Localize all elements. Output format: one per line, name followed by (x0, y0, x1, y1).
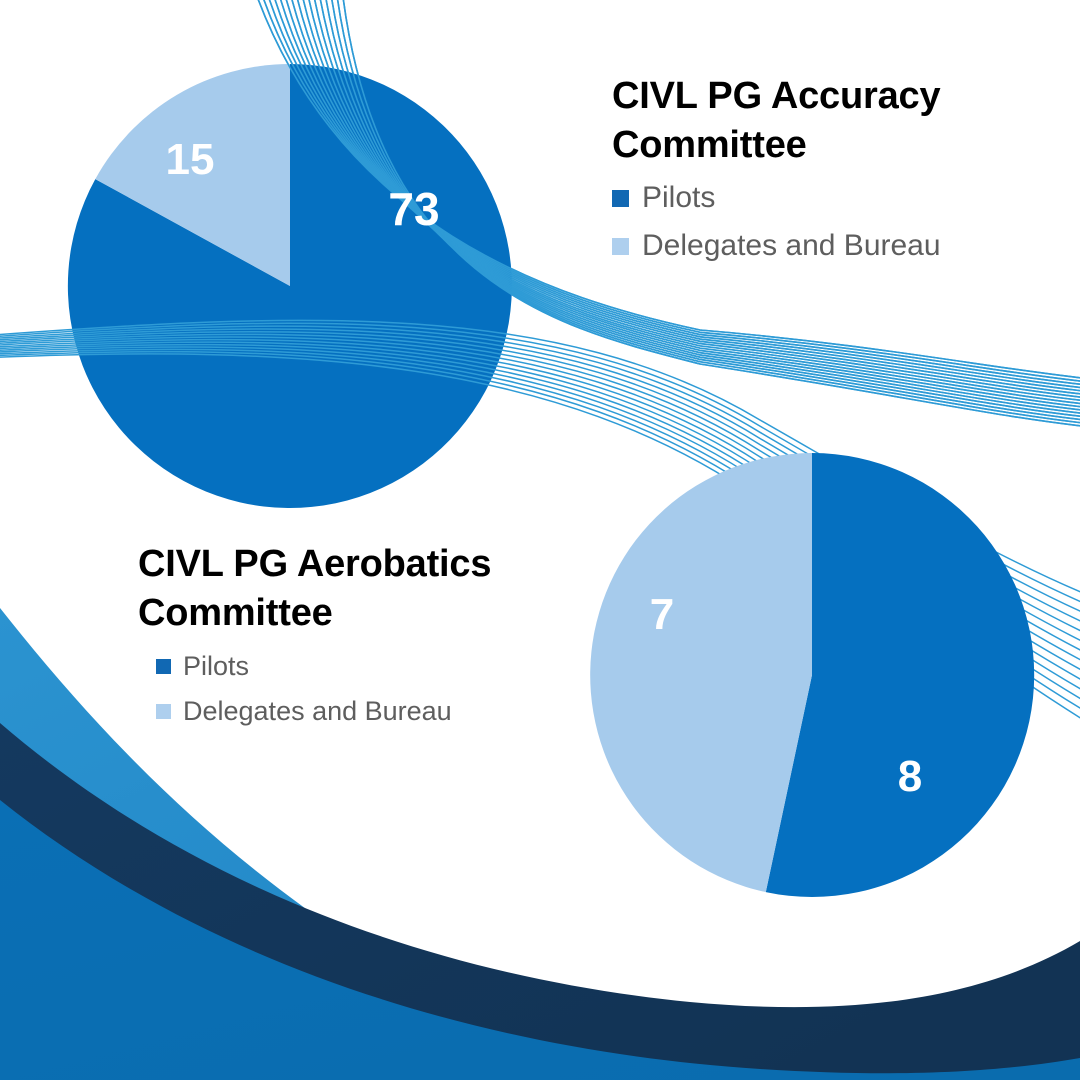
legend-item-delegates[interactable]: Delegates and Bureau (612, 231, 1042, 261)
accuracy-chart-title: CIVL PG Accuracy Committee (612, 72, 1042, 169)
infographic-canvas: CIVL PG Accuracy Committee Pilots Delega… (0, 0, 1080, 1080)
pie-value-label-accuracy-delegates: 15 (166, 135, 215, 185)
legend-item-pilots[interactable]: Pilots (156, 653, 568, 680)
legend-label-pilots: Pilots (183, 653, 249, 680)
accuracy-legend: Pilots Delegates and Bureau (612, 183, 1042, 261)
pie-value-label-aerobatics-delegates: 7 (650, 590, 674, 640)
legend-square-icon (612, 238, 629, 255)
pie-value-label-aerobatics-pilots: 8 (898, 752, 922, 802)
legend-item-pilots[interactable]: Pilots (612, 183, 1042, 213)
legend-label-delegates: Delegates and Bureau (183, 698, 452, 725)
text-layer: CIVL PG Accuracy Committee Pilots Delega… (0, 0, 1080, 1080)
legend-square-icon (156, 704, 171, 719)
legend-square-icon (156, 659, 171, 674)
legend-square-icon (612, 190, 629, 207)
aerobatics-chart-caption: CIVL PG Aerobatics Committee Pilots Dele… (138, 540, 568, 743)
pie-value-label-accuracy-pilots: 73 (388, 182, 439, 236)
aerobatics-legend: Pilots Delegates and Bureau (156, 653, 568, 725)
legend-label-pilots: Pilots (642, 183, 715, 213)
legend-label-delegates: Delegates and Bureau (642, 231, 941, 261)
legend-item-delegates[interactable]: Delegates and Bureau (156, 698, 568, 725)
aerobatics-chart-title: CIVL PG Aerobatics Committee (138, 540, 568, 637)
accuracy-chart-caption: CIVL PG Accuracy Committee Pilots Delega… (612, 72, 1042, 279)
